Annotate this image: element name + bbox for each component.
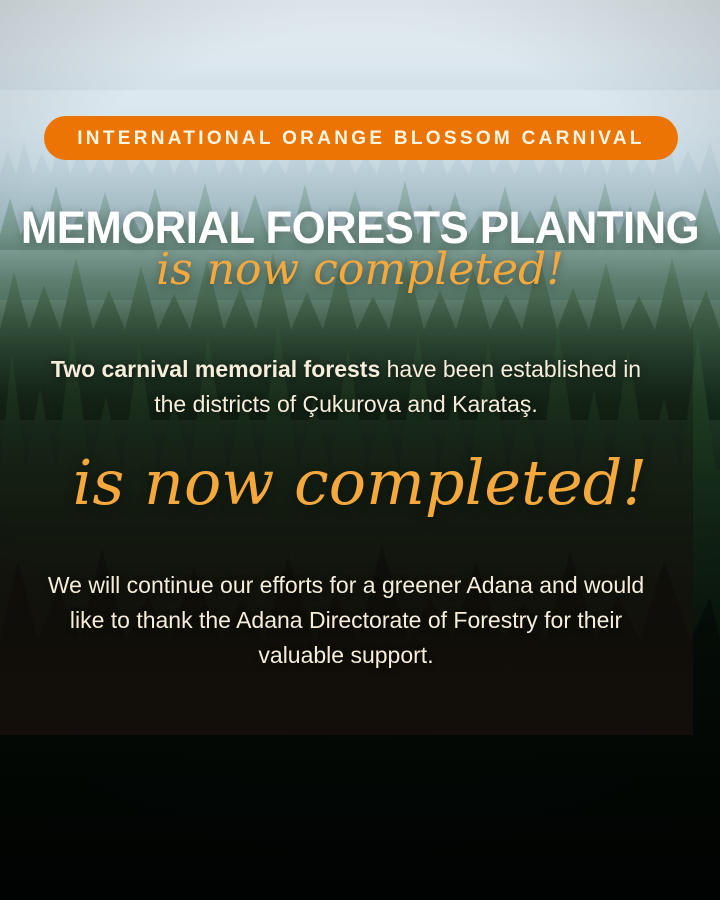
paragraph-lower: We will continue our efforts for a green… bbox=[34, 568, 658, 673]
carnival-badge-label: INTERNATIONAL ORANGE BLOSSOM CARNIVAL bbox=[77, 129, 645, 148]
poster-canvas: INTERNATIONAL ORANGE BLOSSOM CARNIVAL ME… bbox=[0, 0, 720, 900]
paragraph-upper-bold-lead: Two carnival memorial forests bbox=[51, 356, 380, 382]
headline-script-subtitle: is now completed! bbox=[0, 248, 720, 292]
carnival-badge: INTERNATIONAL ORANGE BLOSSOM CARNIVAL bbox=[44, 116, 678, 160]
paragraph-upper: Two carnival memorial forests have been … bbox=[34, 352, 658, 422]
script-banner: is now completed! bbox=[0, 452, 720, 514]
poster-content: INTERNATIONAL ORANGE BLOSSOM CARNIVAL ME… bbox=[0, 0, 720, 900]
